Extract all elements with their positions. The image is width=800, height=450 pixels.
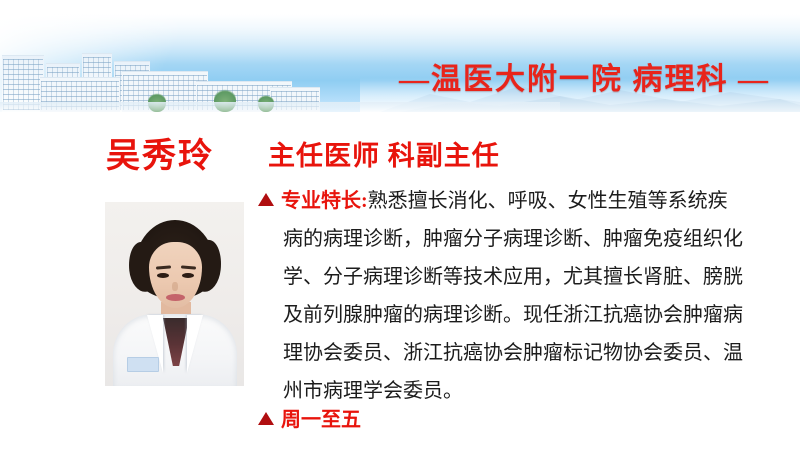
- banner-title: —温医大附一院 病理科 —: [399, 54, 770, 98]
- triangle-bullet-icon: [258, 412, 274, 425]
- specialty-text-0: 熟悉擅长消化、呼吸、女性生殖等系统疾: [368, 190, 728, 212]
- eye-right: [182, 273, 194, 278]
- specialty-line-first: 专业特长:熟悉擅长消化、呼吸、女性生殖等系统疾: [258, 182, 782, 220]
- doctor-name: 吴秀玲: [106, 128, 214, 177]
- specialty-text-2: 学、分子病理诊断等技术应用，尤其擅长肾脏、膀胱: [283, 266, 743, 288]
- specialty-line: 及前列腺肿瘤的病理诊断。现任浙江抗癌协会肿瘤病: [258, 296, 782, 334]
- eye-left: [157, 273, 169, 278]
- schedule-row: 周一至五: [258, 406, 361, 434]
- schedule-text: 周一至五: [281, 409, 361, 431]
- specialty-label: 专业特长:: [281, 190, 368, 212]
- page-banner: —温医大附一院 病理科 —: [0, 14, 800, 112]
- nose-shape: [172, 282, 178, 291]
- coat-lapel-right: [187, 315, 203, 373]
- triangle-bullet-icon: [258, 193, 274, 206]
- id-badge: [127, 357, 159, 372]
- ground-strip: [0, 102, 560, 112]
- specialty-text-5: 州市病理学会委员。: [283, 380, 463, 402]
- mouth-shape: [166, 294, 185, 301]
- doctor-photo: [105, 202, 244, 386]
- doctor-title: 主任医师 科副主任: [268, 134, 500, 173]
- specialty-line: 州市病理学会委员。: [258, 372, 782, 410]
- doctor-header: 吴秀玲 主任医师 科副主任: [0, 128, 800, 176]
- specialty-text-1: 病的病理诊断，肿瘤分子病理诊断、肿瘤免疫组织化: [283, 228, 743, 250]
- specialty-text-3: 及前列腺肿瘤的病理诊断。现任浙江抗癌协会肿瘤病: [283, 304, 743, 326]
- hospital-building-illustration: [0, 40, 320, 112]
- specialty-line: 病的病理诊断，肿瘤分子病理诊断、肿瘤免疫组织化: [258, 220, 782, 258]
- specialty-line: 学、分子病理诊断等技术应用，尤其擅长肾脏、膀胱: [258, 258, 782, 296]
- specialty-block: 专业特长:熟悉擅长消化、呼吸、女性生殖等系统疾 病的病理诊断，肿瘤分子病理诊断、…: [258, 182, 782, 410]
- specialty-text-4: 理协会委员、浙江抗癌协会肿瘤标记物协会委员、温: [283, 342, 743, 364]
- specialty-line: 理协会委员、浙江抗癌协会肿瘤标记物协会委员、温: [258, 334, 782, 372]
